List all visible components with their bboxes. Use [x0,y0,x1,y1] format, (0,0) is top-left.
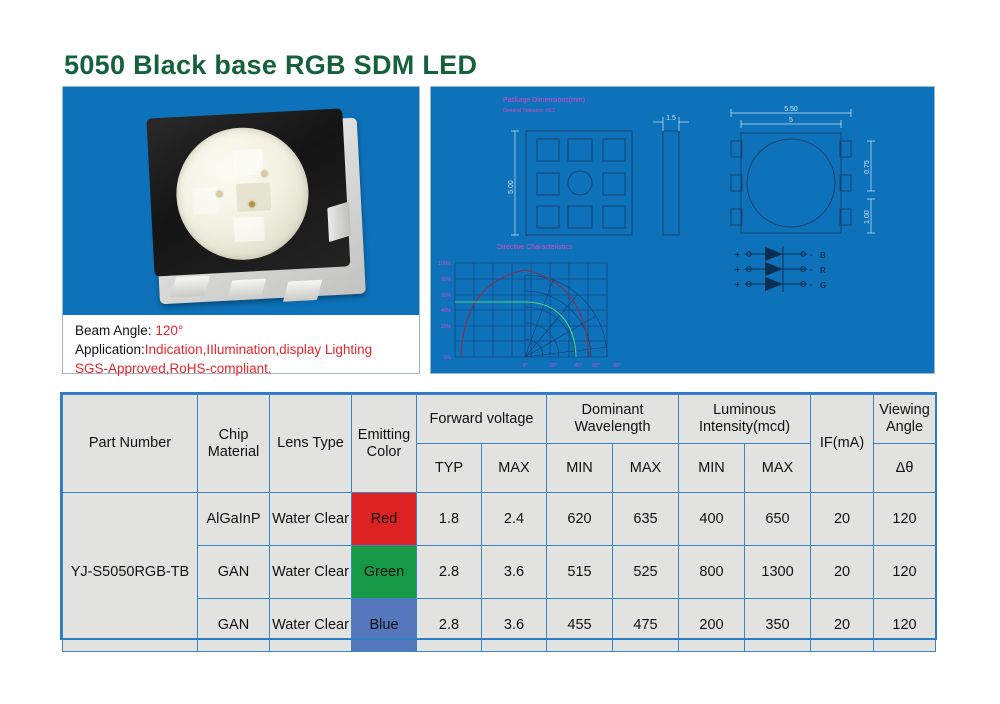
cell-chip-material: GAN [198,546,270,599]
dim-thickness: 1.5 [666,115,676,122]
th-wl-min: MIN [547,444,613,493]
cell-iv-min: 200 [679,599,745,652]
circuit-plus-g: + [735,280,740,289]
dim-height-left: 5.00 [508,180,515,194]
top-view-drawing: 5.50 5 0.75 1.00 [731,106,875,233]
polar-tick-80: 80% [441,277,452,283]
polar-chart-title: Directive Characteristics [497,244,573,251]
polar-angle-80: 80° [613,363,621,369]
th-angle-symbol: Δθ [874,444,936,493]
led-phosphor-lens [173,124,312,263]
dim-pad-100: 1.00 [864,210,871,224]
application-value: Indication,IIlumination,display Lighting [145,342,372,357]
cell-wl-max: 525 [613,546,679,599]
th-iv-max: MAX [745,444,811,493]
th-part-number: Part Number [63,395,198,493]
cell-chip-material: GAN [198,599,270,652]
bottom-view-drawing: 5.00 [508,131,632,235]
circuit-label-g: G [820,281,826,290]
cell-iv-max: 650 [745,493,811,546]
led-die-2 [236,182,271,212]
circuit-minus-r: - [810,265,813,274]
th-chip-material: Chip Material [198,395,270,493]
led-package-illustration [146,108,367,301]
cell-iv-max: 1300 [745,546,811,599]
cell-emitting-color: Blue [352,599,417,652]
dim-pad-075: 0.75 [864,160,871,174]
cell-wl-min: 620 [547,493,613,546]
polar-tick-40: 40% [441,308,452,314]
cell-viewing-angle: 120 [874,599,936,652]
cell-emitting-color: Green [352,546,417,599]
cell-part-number: YJ-S5050RGB-TB [63,493,198,652]
page-title: 5050 Black base RGB SDM LED [64,50,477,81]
cell-lens-type: Water Clear [270,599,352,652]
led-product-photo [63,87,419,315]
application-line: Application:Indication,IIlumination,disp… [75,340,419,359]
cell-iv-min: 400 [679,493,745,546]
solder-pad-2 [227,279,266,301]
dim-width-outer: 5.50 [784,106,798,113]
bond-wire-pad-3 [261,170,267,176]
polar-tick-20: 20% [441,324,452,330]
side-view-drawing: 1.5 [653,115,689,235]
cell-iv-max: 350 [745,599,811,652]
cell-vf-typ: 1.8 [417,493,482,546]
circuit-plus-r: + [735,265,740,274]
polar-angle-40: 40° [574,363,582,369]
application-label: Application: [75,342,145,357]
polar-tick-0: 0% [444,355,452,361]
cell-wl-min: 515 [547,546,613,599]
solder-pad-right [327,201,350,242]
beam-angle-value: 120° [155,323,183,338]
th-iv-min: MIN [679,444,745,493]
cell-vf-typ: 2.8 [417,546,482,599]
dim-width-inner: 5 [789,117,793,124]
circuit-minus-b: - [810,250,813,259]
cell-iv-min: 800 [679,546,745,599]
cell-vf-typ: 2.8 [417,599,482,652]
cell-wl-max: 635 [613,493,679,546]
cell-emitting-color: Red [352,493,417,546]
th-luminous-intensity: Luminous Intensity(mcd) [679,395,811,444]
th-vf-max: MAX [482,444,547,493]
th-dominant-wavelength: Dominant Wavelength [547,395,679,444]
cell-vf-max: 3.6 [482,546,547,599]
directive-characteristics-chart: Directive Characteristics [438,244,621,373]
polar-angle-0: 0° [523,363,528,369]
cell-viewing-angle: 120 [874,546,936,599]
cell-if-ma: 20 [811,599,874,652]
drawing-subheading: General Tolerance ±0.2 [503,108,555,114]
circuit-minus-g: - [810,280,813,289]
circuit-label-b: B [820,251,826,260]
cell-if-ma: 20 [811,493,874,546]
table-body: YJ-S5050RGB-TB AlGaInP Water Clear Red 1… [63,493,936,652]
cell-vf-max: 3.6 [482,599,547,652]
th-forward-voltage: Forward voltage [417,395,547,444]
th-if-ma: IF(mA) [811,395,874,493]
product-photo-panel: Beam Angle: 120° Application:Indication,… [62,86,420,374]
led-die-3 [234,217,265,243]
cell-wl-max: 475 [613,599,679,652]
th-lens-type: Lens Type [270,395,352,493]
cell-lens-type: Water Clear [270,493,352,546]
led-black-base [146,108,350,276]
polar-tick-100: 100% [438,261,451,267]
led-die-4 [192,187,219,214]
circuit-label-r: R [820,266,826,275]
th-wl-max: MAX [613,444,679,493]
compliance-line: SGS-Approved,RoHS-compliant. [75,359,419,378]
cell-viewing-angle: 120 [874,493,936,546]
package-drawing-svg: Package Dimensions(mm) General Tolerance… [431,87,934,373]
bond-wire-pad-1 [216,191,222,197]
led-die-1 [232,149,263,177]
cell-vf-max: 2.4 [482,493,547,546]
cell-wl-min: 455 [547,599,613,652]
polar-angle-60: 60° [592,363,600,369]
polar-tick-60: 60% [441,293,452,299]
solder-pad-1 [171,276,210,298]
th-vf-typ: TYP [417,444,482,493]
cell-chip-material: AlGaInP [198,493,270,546]
beam-angle-line: Beam Angle: 120° [75,321,419,340]
polar-angle-20: 20° [549,363,557,369]
solder-pad-3 [283,280,322,302]
table-header: Part Number Chip Material Lens Type Emit… [63,395,936,493]
cell-lens-type: Water Clear [270,546,352,599]
th-viewing-angle: Viewing Angle [874,395,936,444]
drawing-heading: Package Dimensions(mm) [503,97,585,104]
cell-if-ma: 20 [811,546,874,599]
package-drawing-panel: Package Dimensions(mm) General Tolerance… [430,86,935,374]
th-emitting-color: Emitting Color [352,395,417,493]
circuit-plus-b: + [735,250,740,259]
beam-angle-label: Beam Angle: [75,323,155,338]
table-row: YJ-S5050RGB-TB AlGaInP Water Clear Red 1… [63,493,936,546]
circuit-diagram: + - B + - R + - [735,246,826,292]
product-caption: Beam Angle: 120° Application:Indication,… [63,315,419,373]
specifications-table: Part Number Chip Material Lens Type Emit… [62,394,936,652]
table-header-row-1: Part Number Chip Material Lens Type Emit… [63,395,936,444]
